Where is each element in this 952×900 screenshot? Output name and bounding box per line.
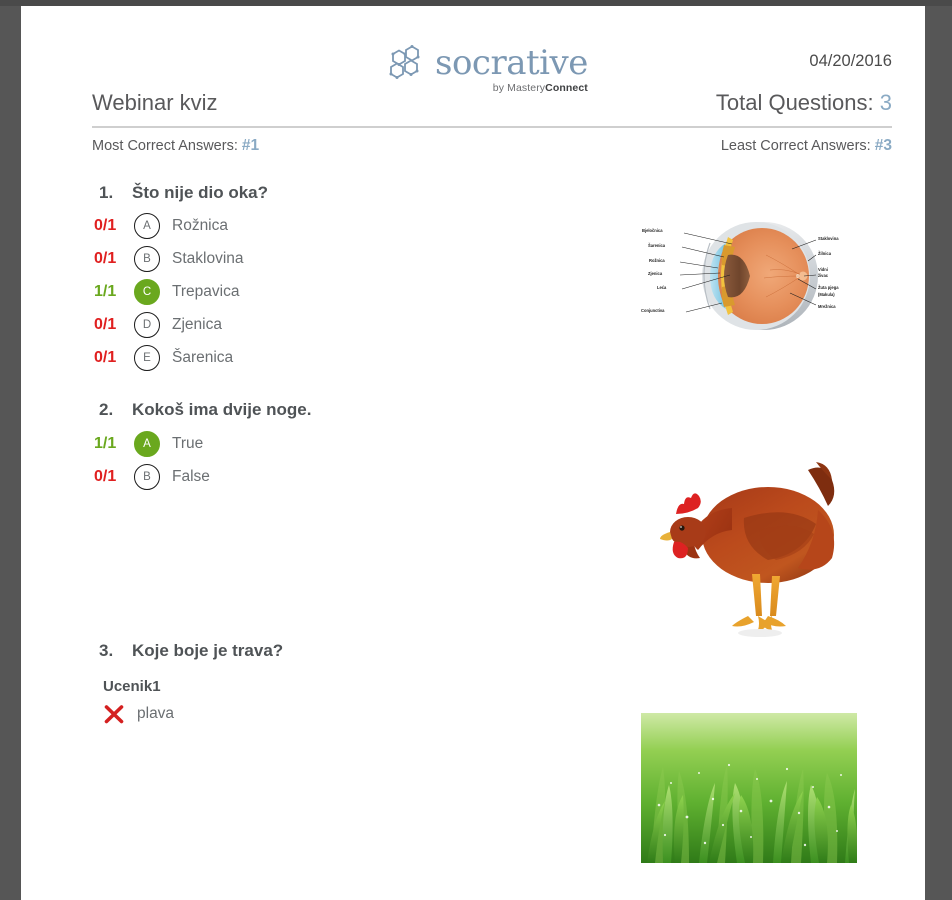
option-bubble: A: [134, 213, 160, 239]
eye-label: Bjeločnica: [642, 228, 662, 233]
eye-label: Žuta pjega: [818, 285, 838, 290]
quiz-name: Webinar kviz: [92, 90, 218, 116]
eye-label: Mrežnica: [818, 304, 836, 309]
option-label: Rožnica: [172, 217, 228, 235]
option-score: 1/1: [92, 435, 134, 453]
option-score: 0/1: [92, 316, 134, 334]
option-row: 0/1 E Šarenica: [92, 341, 892, 374]
option-bubble-correct: C: [134, 279, 160, 305]
eye-label: Conjunctiva: [641, 308, 664, 313]
option-score: 0/1: [92, 250, 134, 268]
logo-wordmark: socrative by MasteryConnect: [435, 44, 588, 94]
report-header: socrative by MasteryConnect 04/20/2016: [21, 6, 925, 90]
option-bubble: D: [134, 312, 160, 338]
grass-photo: [641, 713, 857, 863]
eye-label: (Makula): [818, 292, 835, 297]
eye-label: Žilnica: [818, 251, 831, 256]
eye-label: Leća: [657, 285, 666, 290]
least-correct-stat: Least Correct Answers: #3: [721, 137, 892, 155]
least-correct-label: Least Correct Answers:: [721, 138, 871, 154]
stats-row: Most Correct Answers: #1 Least Correct A…: [92, 137, 892, 161]
option-label: Staklovina: [172, 250, 244, 268]
option-score: 0/1: [92, 349, 134, 367]
question-3-text: Koje boje je trava?: [132, 641, 283, 661]
option-bubble: E: [134, 345, 160, 371]
option-bubble: B: [134, 464, 160, 490]
total-questions-value: 3: [880, 90, 892, 115]
question-1-number: 1.: [92, 183, 132, 203]
report-date: 04/20/2016: [809, 52, 892, 71]
option-score: 0/1: [92, 217, 134, 235]
question-3-number: 3.: [92, 641, 132, 661]
eye-label: živac: [818, 273, 828, 278]
option-score: 1/1: [92, 283, 134, 301]
x-mark-icon: [103, 703, 125, 725]
eye-label: Zjenica: [648, 271, 662, 276]
question-2-number: 2.: [92, 400, 132, 420]
title-row: Webinar kviz Total Questions: 3: [92, 90, 892, 128]
grass-illustration: [641, 713, 857, 863]
eye-label: Staklovina: [818, 236, 838, 241]
eye-anatomy-diagram: Bjeločnica Šarenica Rožnica Zjenica Leća…: [640, 215, 858, 337]
option-bubble-correct: A: [134, 431, 160, 457]
screenshot-viewport: socrative by MasteryConnect 04/20/2016 W…: [0, 0, 952, 900]
least-correct-value: #3: [875, 137, 892, 154]
option-label: Šarenica: [172, 349, 233, 367]
option-label: False: [172, 468, 210, 486]
question-1-text: Što nije dio oka?: [132, 183, 268, 203]
eye-label: Vidni: [818, 267, 828, 272]
option-score: 0/1: [92, 468, 134, 486]
hexagon-cluster-icon: [385, 44, 431, 90]
most-correct-stat: Most Correct Answers: #1: [92, 137, 259, 155]
question-2-heading: 2. Kokoš ima dvije noge.: [92, 400, 892, 420]
option-label: True: [172, 435, 203, 453]
question-1-heading: 1. Što nije dio oka?: [92, 183, 892, 203]
most-correct-value: #1: [242, 137, 259, 154]
chicken-photo: [640, 440, 858, 645]
question-2-text: Kokoš ima dvije noge.: [132, 400, 312, 420]
student-name: Ucenik1: [92, 678, 892, 695]
eye-label: Rožnica: [649, 258, 665, 263]
chicken-illustration: [640, 440, 858, 645]
socrative-logo: socrative by MasteryConnect: [385, 44, 588, 94]
most-correct-label: Most Correct Answers:: [92, 138, 238, 154]
student-response-text: plava: [137, 705, 174, 723]
total-questions: Total Questions: 3: [716, 90, 892, 116]
total-questions-label: Total Questions:: [716, 90, 874, 115]
report-page: socrative by MasteryConnect 04/20/2016 W…: [21, 6, 925, 900]
eye-label: Šarenica: [648, 243, 665, 248]
option-label: Trepavica: [172, 283, 239, 301]
logo-name: socrative: [435, 46, 588, 80]
option-bubble: B: [134, 246, 160, 272]
option-label: Zjenica: [172, 316, 222, 334]
